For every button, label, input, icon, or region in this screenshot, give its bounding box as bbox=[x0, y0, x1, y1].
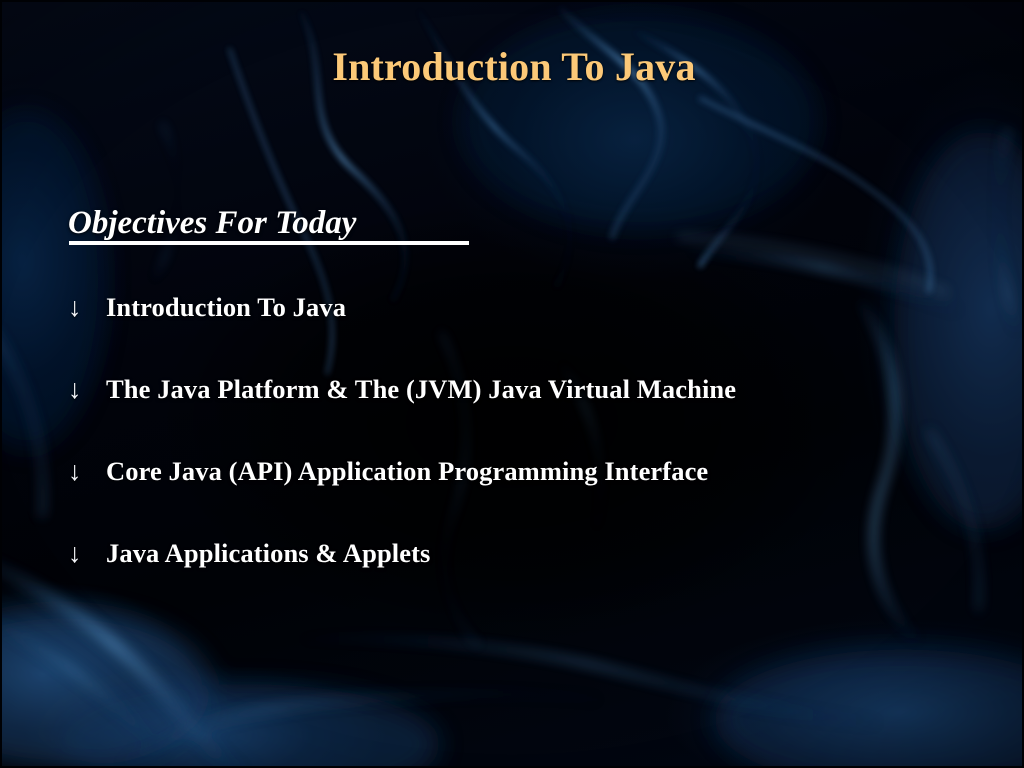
list-item-label: Java Applications & Applets bbox=[106, 538, 430, 569]
list-item-label: The Java Platform & The (JVM) Java Virtu… bbox=[106, 374, 736, 405]
slide-title: Introduction To Java bbox=[2, 43, 1024, 90]
list-item: ↓ Java Applications & Applets bbox=[68, 538, 998, 620]
presentation-slide: Introduction To Java Objectives For Toda… bbox=[0, 0, 1024, 768]
down-arrow-icon: ↓ bbox=[68, 376, 106, 403]
objectives-heading: Objectives For Today bbox=[68, 205, 356, 242]
slide-content: Introduction To Java Objectives For Toda… bbox=[2, 2, 1022, 766]
list-item: ↓ Introduction To Java bbox=[68, 292, 998, 374]
list-item: ↓ The Java Platform & The (JVM) Java Vir… bbox=[68, 374, 998, 456]
list-item: ↓ Core Java (API) Application Programmin… bbox=[68, 456, 998, 538]
objectives-bullet-list: ↓ Introduction To Java ↓ The Java Platfo… bbox=[68, 292, 998, 620]
down-arrow-icon: ↓ bbox=[68, 540, 106, 567]
down-arrow-icon: ↓ bbox=[68, 458, 106, 485]
list-item-label: Core Java (API) Application Programming … bbox=[106, 456, 708, 487]
objectives-heading-underline bbox=[69, 241, 469, 245]
down-arrow-icon: ↓ bbox=[68, 294, 106, 321]
list-item-label: Introduction To Java bbox=[106, 292, 346, 323]
